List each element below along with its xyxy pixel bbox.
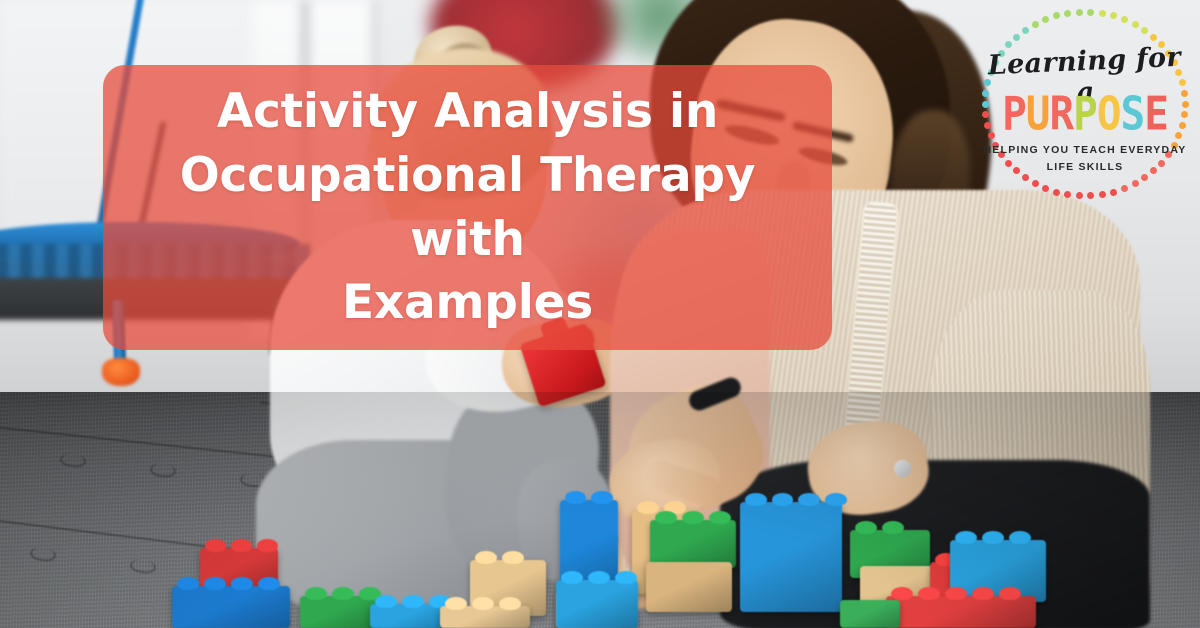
logo-ring-dot: [1087, 192, 1094, 199]
logo-ring-dot: [1032, 21, 1039, 28]
logo-letter-0: P: [1002, 87, 1026, 141]
logo-ring-dot: [1042, 16, 1049, 23]
logo-tagline-line-2: LIFE SKILLS: [978, 159, 1192, 176]
logo-tagline-line-1: HELPING YOU TEACH EVERYDAY: [978, 142, 1192, 159]
logo-letter-6: E: [1144, 87, 1168, 141]
logo-ring-dot: [1053, 189, 1060, 196]
logo-ring-dot: [1110, 189, 1117, 196]
logo-letter-2: R: [1049, 87, 1073, 141]
logo-ring-dot: [1150, 34, 1157, 41]
logo-ring-dot: [1076, 192, 1083, 199]
logo-letter-3: P: [1073, 87, 1097, 141]
logo-ring-dot: [1132, 180, 1139, 187]
photo-vignette: [0, 392, 1200, 628]
logo-ring-dot: [1076, 9, 1083, 16]
logo-letter-4: O: [1097, 87, 1121, 141]
logo-tagline: HELPING YOU TEACH EVERYDAYLIFE SKILLS: [978, 142, 1192, 177]
logo-ring-dot: [1064, 191, 1071, 198]
logo-ring-dot: [1022, 27, 1029, 34]
trampoline-foot: [102, 358, 140, 386]
logo-ring-dot: [1032, 180, 1039, 187]
logo-wordmark: PURPOSE: [978, 92, 1192, 138]
logo-ring-dot: [1013, 34, 1020, 41]
logo-ring-dot: [1121, 16, 1128, 23]
logo-ring-dot: [1099, 191, 1106, 198]
page-title-line-2: Occupational Therapy with: [121, 144, 814, 272]
logo-ring-dot: [1132, 21, 1139, 28]
logo-ring-dot: [1087, 9, 1094, 16]
logo-ring-dot: [1099, 10, 1106, 17]
page-title-line-1: Activity Analysis in: [217, 80, 718, 144]
logo-letter-1: U: [1026, 87, 1050, 141]
logo-ring-dot: [1064, 10, 1071, 17]
page-title-line-3: Examples: [342, 271, 593, 335]
brand-logo[interactable]: Learning for a PURPOSE HELPING YOU TEACH…: [978, 8, 1192, 204]
logo-ring-dot: [1121, 185, 1128, 192]
logo-ring-dot: [1042, 185, 1049, 192]
page-title: Activity Analysis inOccupational Therapy…: [103, 65, 832, 350]
logo-ring-dot: [1005, 41, 1012, 48]
logo-ring-dot: [1110, 12, 1117, 19]
logo-ring-dot: [1141, 27, 1148, 34]
logo-letter-5: S: [1121, 87, 1145, 141]
logo-ring-dot: [1053, 12, 1060, 19]
banner-canvas: Activity Analysis inOccupational Therapy…: [0, 0, 1200, 628]
